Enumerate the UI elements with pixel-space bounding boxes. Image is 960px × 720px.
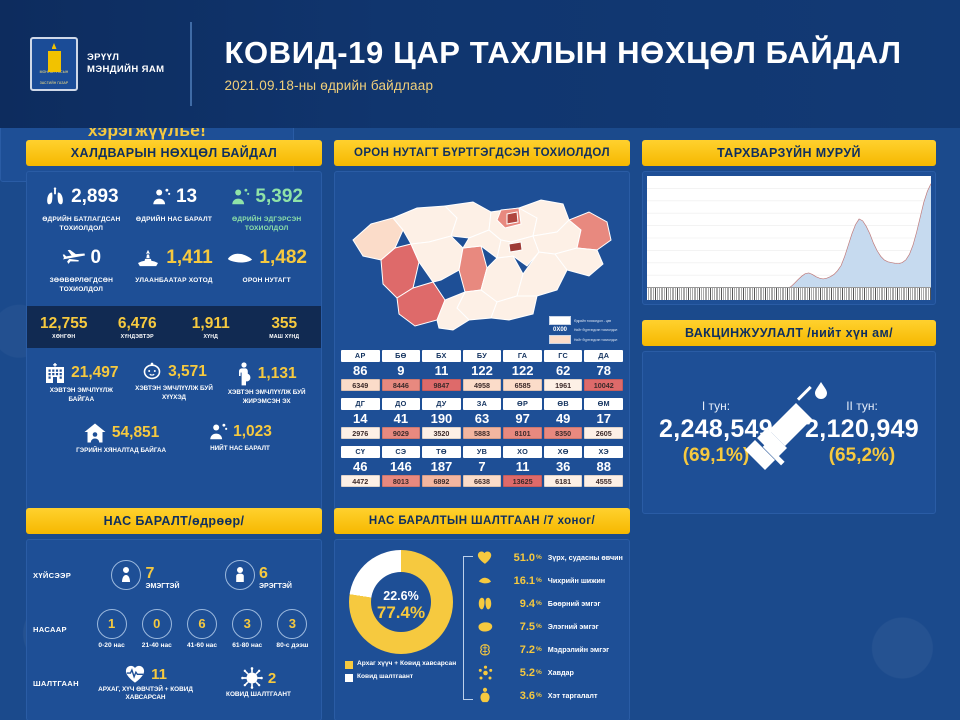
ministry-name: ЭРҮҮЛ МЭНДИЙН ЯАМ bbox=[87, 52, 164, 76]
deaths-by-age-label: НАСААР bbox=[33, 625, 89, 634]
province-code: ДО bbox=[382, 398, 421, 410]
soyombo-icon bbox=[48, 43, 61, 67]
donut-legend-item-covid: Ковид шалтгаант bbox=[345, 673, 461, 682]
province-total-cases: 8350 bbox=[544, 427, 583, 439]
deaths-cause-covid-value: 2 bbox=[268, 670, 276, 687]
province-new-cases: 88 bbox=[584, 459, 623, 474]
province-cases-body: Өдрийн тохиолдол - цэв 0X00 Нийт бүртгэг… bbox=[334, 171, 630, 519]
deaths-age-value: 3 bbox=[232, 609, 262, 639]
province-code: ХЭ bbox=[584, 446, 623, 458]
province-code: ГС bbox=[544, 350, 583, 362]
province-total-cases: 3520 bbox=[422, 427, 461, 439]
severity-critical: 355 МАШ ХҮНД bbox=[248, 315, 322, 340]
province-cell-ДУ[interactable]: ДУ1903520 bbox=[422, 398, 461, 439]
cancer-icon bbox=[475, 665, 495, 681]
death-cause-label: Зүрх, судасны өвчин bbox=[548, 553, 623, 562]
obesity-icon bbox=[475, 687, 495, 704]
severity-moderate-label: ХҮНДЭВТЭР bbox=[101, 334, 175, 340]
percent-symbol: % bbox=[536, 692, 542, 699]
province-code: БӨ bbox=[382, 350, 421, 362]
province-total-cases: 8446 bbox=[382, 379, 421, 391]
stat-daily-deaths-label: ӨДРИЙН НАС БАРАЛТ bbox=[136, 215, 212, 224]
legend-swatch-light bbox=[549, 316, 571, 325]
deaths-by-sex-row: ХҮЙСЭЭР 7 ЭМЭГТЭЙ bbox=[33, 548, 315, 602]
province-total-cases: 9847 bbox=[422, 379, 461, 391]
death-cause-row: 16.1%Чихрийн шижин bbox=[475, 569, 623, 592]
deaths-age-label: 41-60 нас bbox=[187, 642, 217, 650]
deaths-age-value: 6 bbox=[187, 609, 217, 639]
province-code: ДУ bbox=[422, 398, 461, 410]
city-icon bbox=[135, 248, 161, 268]
province-total-cases: 6181 bbox=[544, 475, 583, 487]
deaths-by-sex-items: 7 ЭМЭГТЭЙ 6 ЭРЭГТЭЙ bbox=[89, 560, 315, 590]
province-cell-БӨ[interactable]: БӨ98446 bbox=[382, 350, 421, 391]
province-new-cases: 187 bbox=[422, 459, 461, 474]
stat-home-monitored: 54,851 ГЭРИЙН ХЯНАЛТАД БАЙГАА bbox=[76, 422, 166, 456]
legend-swatch-mid bbox=[549, 335, 571, 344]
stat-provinces-value: 1,482 bbox=[259, 247, 307, 269]
severity-mild: 12,755 ХӨНГӨН bbox=[27, 315, 101, 340]
severity-moderate-value: 6,476 bbox=[101, 315, 175, 333]
stat-home-monitored-label: ГЭРИЙН ХЯНАЛТАД БАЙГАА bbox=[76, 447, 166, 456]
province-cell-ДО[interactable]: ДО419029 bbox=[382, 398, 421, 439]
severity-critical-label: МАШ ХҮНД bbox=[248, 334, 322, 340]
stat-children-value: 3,571 bbox=[168, 363, 207, 381]
stat-ulaanbaatar: 1,411 УЛААНБААТАР ХОТОД bbox=[128, 243, 221, 294]
deaths-age-value: 1 bbox=[97, 609, 127, 639]
province-cell-ӨВ[interactable]: ӨВ498350 bbox=[544, 398, 583, 439]
ministry-name-line2: МЭНДИЙН ЯАМ bbox=[87, 64, 164, 76]
donut-legend: Архаг хүүч + Ковид хавсарсан Ковид шалтг… bbox=[341, 660, 461, 682]
infection-primary-row: 2,893 ӨДРИЙН БАТЛАГДСАН ТОХИОЛДОЛ 13 ӨДР… bbox=[35, 182, 313, 233]
province-cell-ТӨ[interactable]: ТӨ1876892 bbox=[422, 446, 461, 487]
deaths-by-sex-label: ХҮЙСЭЭР bbox=[33, 571, 89, 580]
death-cause-percent: 51.0 bbox=[495, 552, 535, 564]
donut-legend-label-comorbid: Архаг хүүч + Ковид хавсарсан bbox=[357, 660, 456, 669]
province-code: УВ bbox=[463, 446, 502, 458]
province-cell-БУ[interactable]: БУ1224958 bbox=[463, 350, 502, 391]
province-new-cases: 7 bbox=[463, 459, 502, 474]
province-code: ДА bbox=[584, 350, 623, 362]
epicurve-chart bbox=[647, 176, 931, 300]
legend-text-1: Өдрийн тохиолдол - цэв bbox=[574, 319, 611, 323]
map-legend-row-1: Өдрийн тохиолдол - цэв bbox=[549, 316, 621, 325]
province-new-cases: 11 bbox=[503, 459, 542, 474]
heart-pulse-icon bbox=[124, 664, 146, 684]
person-death-icon bbox=[208, 422, 228, 442]
province-cell-ХӨ[interactable]: ХӨ366181 bbox=[544, 446, 583, 487]
daily-deaths-panel: НАС БАРАЛТ/өдрөөр/ ХҮЙСЭЭР 7 ЭМЭГТЭЙ bbox=[26, 508, 322, 720]
deaths-age-group: 10-20 нас bbox=[89, 609, 134, 650]
province-new-cases: 122 bbox=[503, 363, 542, 378]
deaths-female: 7 ЭМЭГТЭЙ bbox=[89, 560, 202, 590]
epicurve-panel: ТАРХВАРЗҮЙН МУРУЙ bbox=[642, 140, 936, 305]
daily-deaths-title: НАС БАРАЛТ/өдрөөр/ bbox=[26, 508, 322, 534]
province-code: АР bbox=[341, 350, 380, 362]
male-icon bbox=[225, 560, 255, 590]
deaths-male: 6 ЭРЭГТЭЙ bbox=[202, 560, 315, 590]
province-cell-ГА[interactable]: ГА1226585 bbox=[503, 350, 542, 391]
province-total-cases: 4472 bbox=[341, 475, 380, 487]
deaths-by-age-row: НАСААР 10-20 нас021-40 нас641-60 нас361-… bbox=[33, 602, 315, 656]
donut-small-value: 22.6% bbox=[383, 589, 418, 603]
stat-daily-confirmed: 2,893 ӨДРИЙН БАТЛАГДСАН ТОХИОЛДОЛ bbox=[35, 182, 128, 233]
province-code: СҮ bbox=[341, 446, 380, 458]
ministry-logo: МОНГОЛ УЛСЫН ЗАСГИЙН ГАЗАР ЭРҮҮЛ МЭНДИЙН… bbox=[30, 37, 164, 91]
vaccination-title: ВАКЦИНЖУУЛАЛТ /нийт хүн ам/ bbox=[642, 320, 936, 346]
death-cause-row: 3.6%Хэт таргалалт bbox=[475, 684, 623, 707]
death-cause-label: Хэт таргалалт bbox=[548, 691, 598, 700]
deaths-cause-comorbid-value: 11 bbox=[151, 666, 167, 683]
death-cause-percent: 9.4 bbox=[495, 598, 535, 610]
person-recovered-icon bbox=[230, 187, 250, 207]
province-cell-ДГ[interactable]: ДГ142976 bbox=[341, 398, 380, 439]
death-cause-percent: 7.2 bbox=[495, 644, 535, 656]
map-legend-row-3: Нийт бүртгэгдсэн тохиолдол bbox=[549, 335, 621, 344]
province-cell-ХО[interactable]: ХО1113625 bbox=[503, 446, 542, 487]
province-new-cases: 190 bbox=[422, 411, 461, 426]
deaths-male-label: ЭРЭГТЭЙ bbox=[259, 583, 292, 590]
kidney-shock-icon bbox=[475, 573, 495, 588]
liver-icon bbox=[475, 620, 495, 634]
province-table: АР866349БӨ98446БХ119847БУ1224958ГА122658… bbox=[341, 350, 623, 487]
death-cause-label: Элэгний эмгэг bbox=[548, 622, 599, 631]
province-cell-ӨР[interactable]: ӨР978101 bbox=[503, 398, 542, 439]
province-code: СЭ bbox=[382, 446, 421, 458]
infection-secondary-row: 0 ЗӨӨВӨРЛӨГДСӨН ТОХИОЛДОЛ 1,411 УЛААНБАА… bbox=[35, 243, 313, 294]
deaths-age-label: 80-с дээш bbox=[276, 642, 308, 650]
deaths-male-value: 6 bbox=[259, 565, 268, 582]
percent-symbol: % bbox=[536, 646, 542, 653]
province-new-cases: 11 bbox=[422, 363, 461, 378]
province-total-cases: 2976 bbox=[341, 427, 380, 439]
province-total-cases: 8101 bbox=[503, 427, 542, 439]
province-new-cases: 46 bbox=[341, 459, 380, 474]
province-new-cases: 49 bbox=[544, 411, 583, 426]
province-band: ДГ142976ДО419029ДУ1903520ЗА635883ӨР97810… bbox=[341, 398, 623, 439]
kidney-icon bbox=[475, 596, 495, 612]
stat-hospitalized: 21,497 ХЭВТЭН ЭМЧЛҮҮЛЖ БАЙГАА bbox=[35, 362, 128, 406]
deaths-cause-comorbid-label: АРХАГ, ХҮЧ ӨВЧТЭЙ + КОВИД ХАВСАРСАН bbox=[89, 686, 202, 702]
vaccination-body: I тун: 2,248,549 (69,1%) II тун: 2,120,9… bbox=[642, 351, 936, 514]
stat-hospitalized-label: ХЭВТЭН ЭМЧЛҮҮЛЖ БАЙГАА bbox=[38, 387, 125, 404]
percent-symbol: % bbox=[536, 577, 542, 584]
province-cell-СҮ[interactable]: СҮ464472 bbox=[341, 446, 380, 487]
stat-daily-deaths: 13 ӨДРИЙН НАС БАРАЛТ bbox=[128, 182, 221, 233]
province-total-cases: 13625 bbox=[503, 475, 542, 487]
death-causes-body: 22.6% 77.4% Архаг хүүч + Ковид хавсарсан… bbox=[334, 539, 630, 720]
deaths-age-label: 0-20 нас bbox=[98, 642, 124, 650]
stat-transferred-label: ЗӨӨВӨРЛӨГДСӨН ТОХИОЛДОЛ bbox=[37, 276, 126, 294]
epicurve-x-axis-ticks bbox=[647, 287, 931, 300]
stat-hospitalized-value: 21,497 bbox=[71, 364, 118, 382]
stat-ulaanbaatar-label: УЛААНБААТАР ХОТОД bbox=[135, 276, 212, 285]
province-new-cases: 78 bbox=[584, 363, 623, 378]
severity-mild-value: 12,755 bbox=[27, 315, 101, 333]
deaths-age-group: 641-60 нас bbox=[179, 609, 224, 650]
home-monitoring-row: 54,851 ГЭРИЙН ХЯНАЛТАД БАЙГАА 1,023 НИЙТ… bbox=[35, 422, 313, 456]
deaths-age-group: 361-80 нас bbox=[225, 609, 270, 650]
deaths-cause-comorbid: 11 АРХАГ, ХҮЧ ӨВЧТЭЙ + КОВИД ХАВСАРСАН bbox=[89, 664, 202, 702]
death-cause-label: Хавдар bbox=[548, 668, 574, 677]
page-title: КОВИД-19 ЦАР ТАХЛЫН НӨХЦӨЛ БАЙДАЛ bbox=[224, 35, 901, 71]
severity-severe-label: ХҮНД bbox=[174, 334, 248, 340]
severity-mild-label: ХӨНГӨН bbox=[27, 334, 101, 340]
legend-number: 0X00 bbox=[549, 327, 571, 333]
province-cell-АР[interactable]: АР866349 bbox=[341, 350, 380, 391]
stat-daily-deaths-value: 13 bbox=[176, 186, 197, 208]
province-new-cases: 86 bbox=[341, 363, 380, 378]
province-cases-panel: ОРОН НУТАГТ БҮРТГЭГДСЭН ТОХИОЛДОЛ bbox=[334, 140, 630, 519]
province-code: ӨВ bbox=[544, 398, 583, 410]
brain-icon bbox=[475, 642, 495, 658]
province-total-cases: 9029 bbox=[382, 427, 421, 439]
epicurve-title: ТАРХВАРЗҮЙН МУРУЙ bbox=[642, 140, 936, 166]
map-icon bbox=[226, 250, 254, 266]
province-new-cases: 63 bbox=[463, 411, 502, 426]
severity-critical-value: 355 bbox=[248, 315, 322, 333]
stat-children-label: ХЭВТЭН ЭМЧЛҮҮЛЖ БУЙ ХҮҮХЭД bbox=[131, 385, 218, 402]
percent-symbol: % bbox=[536, 600, 542, 607]
province-total-cases: 2605 bbox=[584, 427, 623, 439]
death-causes-list: 51.0%Зүрх, судасны өвчин16.1%Чихрийн шиж… bbox=[461, 546, 623, 714]
deaths-age-value: 0 bbox=[142, 609, 172, 639]
death-cause-label: Бөөрний эмгэг bbox=[548, 599, 601, 608]
infection-status-body: 2,893 ӨДРИЙН БАТЛАГДСАН ТОХИОЛДОЛ 13 ӨДР… bbox=[26, 171, 322, 519]
legend-text-2: Нийт бүртгэгдсэн тохиолдол bbox=[574, 328, 617, 332]
percent-symbol: % bbox=[536, 623, 542, 630]
legend-text-3: Нийт бүртгэгдсэн тохиолдол bbox=[574, 338, 617, 342]
ministry-name-line1: ЭРҮҮЛ bbox=[87, 52, 164, 64]
province-cell-ХЭ[interactable]: ХЭ884555 bbox=[584, 446, 623, 487]
mongolia-map: Өдрийн тохиолдол - цэв 0X00 Нийт бүртгэг… bbox=[341, 178, 623, 346]
deaths-age-group: 380-с дээш bbox=[270, 609, 315, 650]
province-total-cases: 6349 bbox=[341, 379, 380, 391]
death-cause-label: Чихрийн шижин bbox=[548, 576, 605, 585]
stat-total-deaths: 1,023 НИЙТ НАС БАРАЛТ bbox=[208, 422, 272, 456]
donut-legend-label-covid: Ковид шалтгаант bbox=[357, 673, 413, 682]
death-causes-donut-column: 22.6% 77.4% Архаг хүүч + Ковид хавсарсан… bbox=[341, 546, 461, 714]
stat-daily-recovered: 5,392 ӨДРИЙН ЭДГЭРСЭН ТОХИОЛДОЛ bbox=[220, 182, 313, 233]
dashboard-root: МОНГОЛ УЛСЫН ЗАСГИЙН ГАЗАР ЭРҮҮЛ МЭНДИЙН… bbox=[0, 0, 960, 720]
province-code: ӨМ bbox=[584, 398, 623, 410]
province-cell-БХ[interactable]: БХ119847 bbox=[422, 350, 461, 391]
province-code: ӨР bbox=[503, 398, 542, 410]
province-code: БХ bbox=[422, 350, 461, 362]
stat-pregnant: 1,131 ХЭВТЭН ЭМЧЛҮҮЛЖ БУЙ ЖИРЭМСЭН ЭХ bbox=[220, 362, 313, 406]
province-new-cases: 62 bbox=[544, 363, 583, 378]
vaccination-panel: ВАКЦИНЖУУЛАЛТ /нийт хүн ам/ I тун: 2,248… bbox=[642, 320, 936, 514]
header-titles: КОВИД-19 ЦАР ТАХЛЫН НӨХЦӨЛ БАЙДАЛ 2021.0… bbox=[224, 35, 901, 93]
hospital-icon bbox=[44, 362, 66, 384]
pregnant-icon bbox=[237, 362, 253, 386]
percent-symbol: % bbox=[536, 554, 542, 561]
province-cell-ДА[interactable]: ДА7810042 bbox=[584, 350, 623, 391]
virus-icon bbox=[241, 667, 263, 689]
stat-daily-recovered-value: 5,392 bbox=[255, 186, 303, 208]
province-total-cases: 10042 bbox=[584, 379, 623, 391]
deaths-by-cause-label: ШАЛТГААН bbox=[33, 679, 89, 688]
death-causes-panel: НАС БАРАЛТЫН ШАЛТГААН /7 хоног/ 22.6% 77… bbox=[334, 508, 630, 720]
stat-home-monitored-value: 54,851 bbox=[112, 424, 159, 442]
stat-daily-confirmed-value: 2,893 bbox=[71, 186, 119, 208]
province-total-cases: 1961 bbox=[544, 379, 583, 391]
header-divider bbox=[190, 22, 192, 106]
province-code: БУ bbox=[463, 350, 502, 362]
deaths-cause-covid-label: КОВИД ШАЛТГААНТ bbox=[226, 691, 291, 699]
province-band: АР866349БӨ98446БХ119847БУ1224958ГА122658… bbox=[341, 350, 623, 391]
stat-pregnant-label: ХЭВТЭН ЭМЧЛҮҮЛЖ БУЙ ЖИРЭМСЭН ЭХ bbox=[223, 389, 310, 406]
province-code: ХӨ bbox=[544, 446, 583, 458]
cause-list-bracket bbox=[463, 556, 473, 700]
stat-transferred-value: 0 bbox=[91, 247, 102, 269]
province-band: СҮ464472СЭ1468013ТӨ1876892УВ76638ХО11136… bbox=[341, 446, 623, 487]
logo-emblem-box: МОНГОЛ УЛСЫН ЗАСГИЙН ГАЗАР bbox=[30, 37, 78, 91]
death-cause-percent: 3.6 bbox=[495, 690, 535, 702]
airplane-icon bbox=[62, 248, 86, 268]
infection-status-panel: ХАЛДВАРЫН НӨХЦӨЛ БАЙДАЛ 2,893 ӨДРИЙН БАТ… bbox=[26, 140, 322, 519]
stat-provinces: 1,482 ОРОН НУТАГТ bbox=[220, 243, 313, 294]
map-legend-row-2: 0X00 Нийт бүртгэгдсэн тохиолдол bbox=[549, 327, 621, 333]
page-subtitle: 2021.09.18-ны өдрийн байдлаар bbox=[224, 78, 901, 93]
province-code: ГА bbox=[503, 350, 542, 362]
stat-daily-recovered-label: ӨДРИЙН ЭДГЭРСЭН ТОХИОЛДОЛ bbox=[222, 215, 311, 233]
logo-band-line2: ЗАСГИЙН ГАЗАР bbox=[34, 80, 74, 89]
province-cell-УВ[interactable]: УВ76638 bbox=[463, 446, 502, 487]
stat-total-deaths-value: 1,023 bbox=[233, 423, 272, 441]
province-total-cases: 4958 bbox=[463, 379, 502, 391]
deaths-age-value: 3 bbox=[277, 609, 307, 639]
stat-transferred: 0 ЗӨӨВӨРЛӨГДСӨН ТОХИОЛДОЛ bbox=[35, 243, 128, 294]
deaths-age-label: 61-80 нас bbox=[232, 642, 262, 650]
province-cell-ӨМ[interactable]: ӨМ172605 bbox=[584, 398, 623, 439]
province-cases-title: ОРОН НУТАГТ БҮРТГЭГДСЭН ТОХИОЛДОЛ bbox=[334, 140, 630, 166]
province-cell-СЭ[interactable]: СЭ1468013 bbox=[382, 446, 421, 487]
province-new-cases: 97 bbox=[503, 411, 542, 426]
donut-legend-swatch-covid bbox=[345, 674, 353, 682]
cause-rows-container: 51.0%Зүрх, судасны өвчин16.1%Чихрийн шиж… bbox=[475, 546, 623, 707]
syringe-icon bbox=[741, 378, 837, 488]
severity-moderate: 6,476 ХҮНДЭВТЭР bbox=[101, 315, 175, 340]
percent-symbol: % bbox=[536, 669, 542, 676]
province-total-cases: 6638 bbox=[463, 475, 502, 487]
hospitalization-row: 21,497 ХЭВТЭН ЭМЧЛҮҮЛЖ БАЙГАА 3,571 ХЭВТ… bbox=[35, 362, 313, 406]
stat-pregnant-value: 1,131 bbox=[258, 365, 297, 383]
province-cell-ЗА[interactable]: ЗА635883 bbox=[463, 398, 502, 439]
province-new-cases: 36 bbox=[544, 459, 583, 474]
death-cause-row: 7.5%Элэгний эмгэг bbox=[475, 615, 623, 638]
province-total-cases: 8013 bbox=[382, 475, 421, 487]
death-cause-percent: 7.5 bbox=[495, 621, 535, 633]
province-new-cases: 41 bbox=[382, 411, 421, 426]
deaths-cause-covid: 2 КОВИД ШАЛТГААНТ bbox=[202, 667, 315, 699]
severity-strip: 12,755 ХӨНГӨН 6,476 ХҮНДЭВТЭР 1,911 ХҮНД… bbox=[27, 306, 321, 348]
heart-icon bbox=[475, 550, 495, 565]
province-total-cases: 6892 bbox=[422, 475, 461, 487]
death-cause-percent: 16.1 bbox=[495, 575, 535, 587]
lungs-icon bbox=[44, 187, 66, 207]
province-code: ДГ bbox=[341, 398, 380, 410]
severity-severe: 1,911 ХҮНД bbox=[174, 315, 248, 340]
province-new-cases: 146 bbox=[382, 459, 421, 474]
epicurve-area-chart bbox=[647, 176, 931, 300]
deaths-age-group: 021-40 нас bbox=[134, 609, 179, 650]
death-cause-row: 7.2%Мэдрэлийн эмгэг bbox=[475, 638, 623, 661]
death-cause-percent: 5.2 bbox=[495, 667, 535, 679]
severity-severe-value: 1,911 bbox=[174, 315, 248, 333]
female-icon bbox=[111, 560, 141, 590]
death-cause-row: 5.2%Хавдар bbox=[475, 661, 623, 684]
deaths-female-value: 7 bbox=[145, 565, 154, 582]
deaths-female-label: ЭМЭГТЭЙ bbox=[145, 583, 179, 590]
stat-children: 3,571 ХЭВТЭН ЭМЧЛҮҮЛЖ БУЙ ХҮҮХЭД bbox=[128, 362, 221, 406]
province-code: ЗА bbox=[463, 398, 502, 410]
death-cause-row: 9.4%Бөөрний эмгэг bbox=[475, 592, 623, 615]
infection-status-title: ХАЛДВАРЫН НӨХЦӨЛ БАЙДАЛ bbox=[26, 140, 322, 166]
deaths-by-cause-row: ШАЛТГААН 11 АРХАГ, ХҮЧ ӨВЧТЭЙ + КОВИД ХА… bbox=[33, 656, 315, 710]
province-total-cases: 4555 bbox=[584, 475, 623, 487]
donut-big-value: 77.4% bbox=[377, 603, 425, 623]
home-icon bbox=[83, 422, 107, 444]
stat-provinces-label: ОРОН НУТАГТ bbox=[242, 276, 290, 285]
map-legend: Өдрийн тохиолдол - цэв 0X00 Нийт бүртгэг… bbox=[549, 316, 621, 344]
province-total-cases: 6585 bbox=[503, 379, 542, 391]
province-new-cases: 122 bbox=[463, 363, 502, 378]
death-causes-title: НАС БАРАЛТЫН ШАЛТГААН /7 хоног/ bbox=[334, 508, 630, 534]
province-code: ТӨ bbox=[422, 446, 461, 458]
daily-deaths-body: ХҮЙСЭЭР 7 ЭМЭГТЭЙ bbox=[26, 539, 322, 720]
death-cause-row: 51.0%Зүрх, судасны өвчин bbox=[475, 546, 623, 569]
province-code: ХО bbox=[503, 446, 542, 458]
deaths-by-age-items: 10-20 нас021-40 нас641-60 нас361-80 нас3… bbox=[89, 609, 315, 650]
stat-total-deaths-label: НИЙТ НАС БАРАЛТ bbox=[210, 445, 270, 454]
donut-legend-swatch-comorbid bbox=[345, 661, 353, 669]
page-header: МОНГОЛ УЛСЫН ЗАСГИЙН ГАЗАР ЭРҮҮЛ МЭНДИЙН… bbox=[0, 0, 960, 128]
province-total-cases: 5883 bbox=[463, 427, 502, 439]
epicurve-body bbox=[642, 171, 936, 305]
province-cell-ГС[interactable]: ГС621961 bbox=[544, 350, 583, 391]
donut-center-labels: 22.6% 77.4% bbox=[349, 554, 453, 658]
vaccination-content: I тун: 2,248,549 (69,1%) II тун: 2,120,9… bbox=[643, 352, 935, 513]
person-death-icon bbox=[151, 187, 171, 207]
donut-legend-item-comorbid: Архаг хүүч + Ковид хавсарсан bbox=[345, 660, 461, 669]
deaths-by-cause-items: 11 АРХАГ, ХҮЧ ӨВЧТЭЙ + КОВИД ХАВСАРСАН 2… bbox=[89, 664, 315, 702]
province-new-cases: 9 bbox=[382, 363, 421, 378]
stat-ulaanbaatar-value: 1,411 bbox=[166, 247, 213, 269]
stat-daily-confirmed-label: ӨДРИЙН БАТЛАГДСАН ТОХИОЛДОЛ bbox=[37, 215, 126, 233]
baby-icon bbox=[141, 362, 163, 382]
province-new-cases: 17 bbox=[584, 411, 623, 426]
province-new-cases: 14 bbox=[341, 411, 380, 426]
deaths-age-label: 21-40 нас bbox=[142, 642, 172, 650]
death-cause-label: Мэдрэлийн эмгэг bbox=[548, 645, 609, 654]
